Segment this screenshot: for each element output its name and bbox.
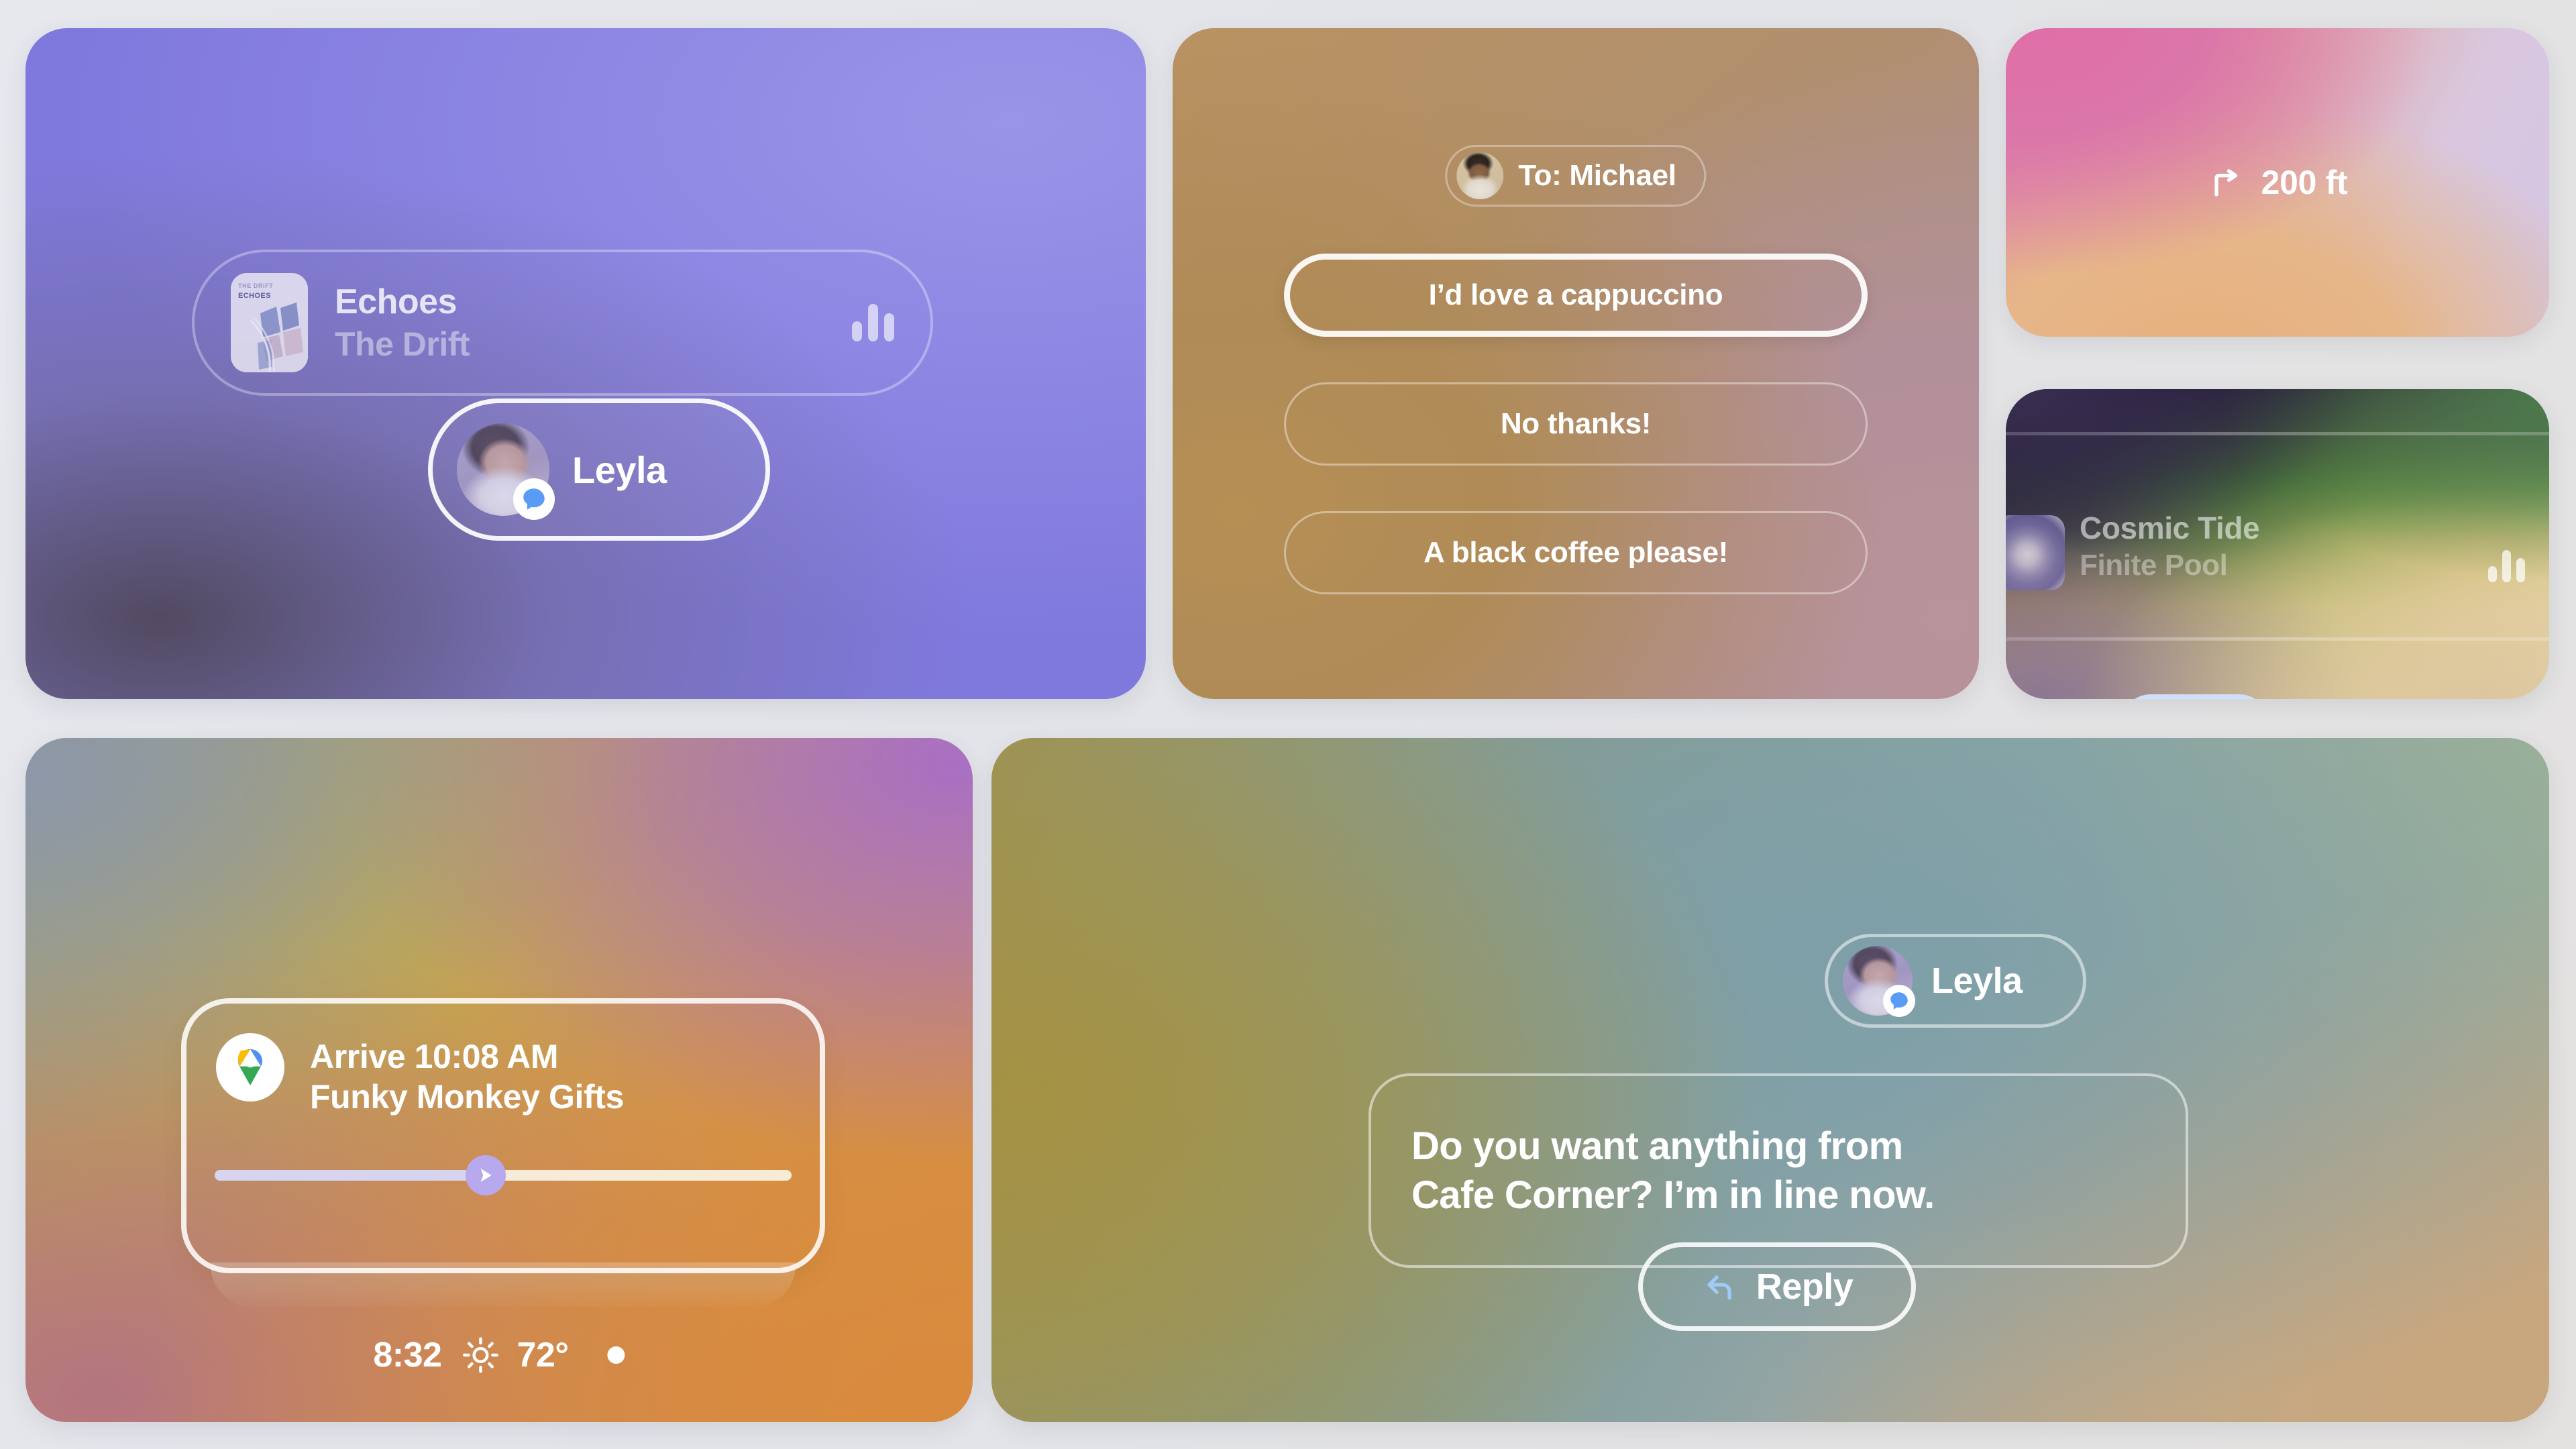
avatar — [457, 423, 549, 516]
reply-button[interactable]: Reply — [1638, 1242, 1916, 1331]
card-mini-player[interactable]: Cosmic Tide Finite Pool — [2006, 389, 2549, 699]
now-playing-panel[interactable]: THE DRIFT ECHOES Echoes The Drift — [192, 250, 933, 396]
track-meta: Echoes The Drift — [335, 282, 470, 364]
equalizer-icon — [852, 304, 894, 341]
reply-arrow-icon — [1701, 1267, 1740, 1306]
recipient-label: To: Michael — [1518, 159, 1676, 193]
card-now-playing-leyla[interactable]: THE DRIFT ECHOES Echoes The Drift Ley — [25, 28, 1146, 699]
speech-bubble-icon — [520, 485, 548, 513]
album-art-title-label: ECHOES — [238, 292, 271, 300]
messages-badge-icon — [513, 478, 555, 520]
reply-button-label: Reply — [1756, 1266, 1854, 1307]
sun-icon — [462, 1336, 499, 1374]
divider-bottom — [2006, 637, 2549, 641]
track-artist: Finite Pool — [2080, 549, 2259, 582]
card-incoming-message[interactable]: Leyla Do you want anything from Cafe Cor… — [991, 738, 2549, 1422]
music-note-pill[interactable] — [2121, 694, 2269, 699]
album-art-artist-label: THE DRIFT — [238, 282, 273, 289]
navigation-header: Arrive 10:08 AM Funky Monkey Gifts — [216, 1033, 624, 1116]
map-pin-glyph — [226, 1043, 274, 1091]
avatar — [1843, 946, 1913, 1016]
navigation-panel[interactable]: Arrive 10:08 AM Funky Monkey Gifts — [181, 998, 825, 1273]
google-maps-pin-icon — [216, 1033, 284, 1102]
equalizer-icon — [2488, 550, 2525, 582]
recipient-chip[interactable]: To: Michael — [1445, 145, 1706, 207]
eta-label: Arrive 10:08 AM — [310, 1037, 624, 1076]
navigation-arrow-icon[interactable] — [466, 1155, 506, 1195]
reply-option-2[interactable]: A black coffee please! — [1284, 511, 1868, 594]
track-title: Cosmic Tide — [2080, 510, 2259, 546]
reply-option-label: A black coffee please! — [1424, 536, 1728, 570]
message-line-1: Do you want anything from — [1411, 1122, 1935, 1171]
card-suggested-replies[interactable]: To: Michael I’d love a cappuccino No tha… — [1173, 28, 1979, 699]
caller-chip-leyla[interactable]: Leyla — [428, 398, 770, 541]
album-art: THE DRIFT ECHOES — [231, 273, 308, 372]
status-dot — [608, 1346, 625, 1364]
navigation-text: Arrive 10:08 AM Funky Monkey Gifts — [310, 1033, 624, 1116]
card-turn-distance[interactable]: 200 ft — [2006, 28, 2549, 337]
card-navigation[interactable]: Arrive 10:08 AM Funky Monkey Gifts 8:32 — [25, 738, 973, 1422]
turn-right-icon — [2208, 164, 2244, 201]
divider-top — [2006, 432, 2549, 435]
reply-option-0[interactable]: I’d love a cappuccino — [1284, 254, 1868, 337]
arrow-glyph — [476, 1165, 496, 1185]
message-text: Do you want anything from Cafe Corner? I… — [1411, 1122, 1935, 1220]
reply-option-1[interactable]: No thanks! — [1284, 382, 1868, 466]
caller-name: Leyla — [572, 448, 667, 492]
turn-distance-label: 200 ft — [2261, 163, 2348, 202]
temperature-label: 72° — [517, 1335, 568, 1375]
destination-label: Funky Monkey Gifts — [310, 1077, 624, 1116]
reply-option-label: I’d love a cappuccino — [1429, 278, 1723, 312]
speech-bubble-icon — [1888, 989, 1911, 1012]
message-line-2: Cafe Corner? I’m in line now. — [1411, 1171, 1935, 1220]
album-art — [2006, 515, 2065, 590]
sender-name: Leyla — [1931, 960, 2023, 1002]
track-title: Echoes — [335, 282, 470, 322]
turn-row: 200 ft — [2208, 163, 2348, 202]
route-progress-fill — [215, 1170, 486, 1181]
track-artist: The Drift — [335, 325, 470, 364]
track-meta: Cosmic Tide Finite Pool — [2080, 510, 2259, 582]
widget-board: THE DRIFT ECHOES Echoes The Drift Ley — [0, 0, 2576, 1449]
messages-badge-icon — [1883, 985, 1915, 1017]
status-row: 8:32 72° — [373, 1335, 625, 1375]
clock-label: 8:32 — [373, 1335, 441, 1375]
sender-chip[interactable]: Leyla — [1825, 934, 2086, 1028]
message-bubble[interactable]: Do you want anything from Cafe Corner? I… — [1368, 1073, 2188, 1268]
route-progress-bar[interactable] — [215, 1170, 792, 1181]
michael-avatar — [1456, 152, 1503, 199]
reply-option-label: No thanks! — [1501, 407, 1651, 441]
